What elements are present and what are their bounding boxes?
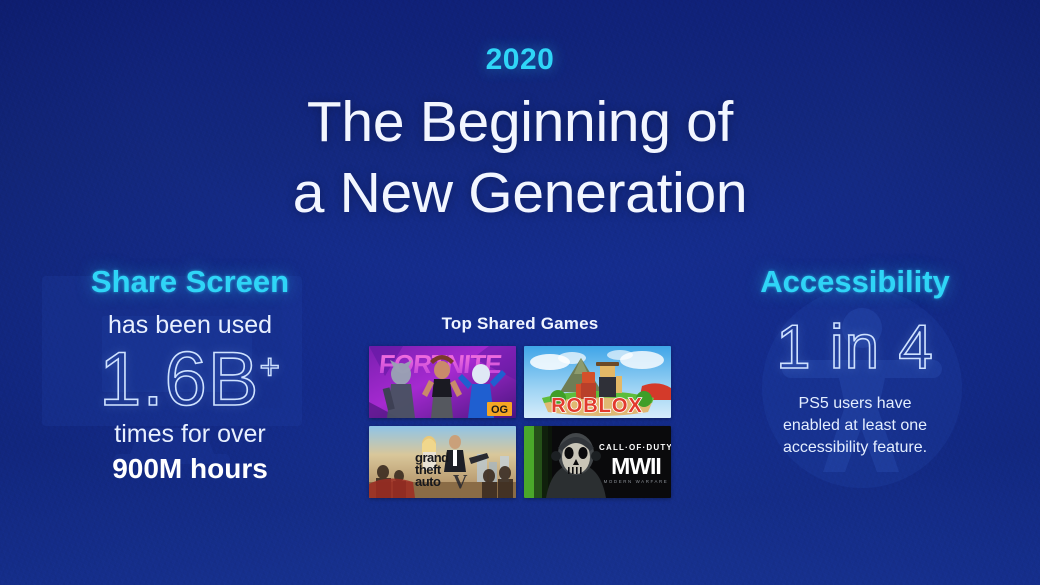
year-label: 2020 — [0, 45, 1040, 75]
accessibility-panel: Accessibility 1 in 4 PS5 users have enab… — [690, 266, 1020, 459]
svg-text:MWII: MWII — [611, 453, 661, 479]
share-screen-panel: Share Screen has been used 1.6B+ times f… — [22, 266, 358, 485]
top-shared-games-title: Top Shared Games — [352, 314, 688, 334]
game-tile-fortnite[interactable]: FORTNITE — [369, 346, 516, 418]
accessibility-description: PS5 users have enabled at least one acce… — [690, 393, 1020, 459]
accessibility-description-line-3: accessibility feature. — [690, 437, 1020, 459]
fortnite-thumbnail-art: FORTNITE — [369, 346, 516, 418]
share-screen-statistic: 1.6B+ — [22, 342, 358, 418]
accessibility-description-line-2: enabled at least one — [690, 415, 1020, 437]
svg-text:MODERN WARFARE: MODERN WARFARE — [604, 479, 669, 484]
header: 2020 The Beginning of a New Generation — [0, 0, 1040, 228]
game-tile-call-of-duty-mwii[interactable]: CALL·OF·DUTY MWII MODERN WARFARE — [524, 426, 671, 498]
accessibility-statistic: 1 in 4 — [690, 317, 1020, 379]
svg-text:CALL·OF·DUTY: CALL·OF·DUTY — [599, 443, 671, 452]
game-thumbnail-grid: FORTNITE — [352, 346, 688, 498]
fortnite-og-badge: OG — [491, 404, 508, 416]
share-screen-statistic-value: 1.6B — [99, 337, 259, 422]
cod-mwii-thumbnail-art: CALL·OF·DUTY MWII MODERN WARFARE — [524, 426, 671, 498]
svg-text:auto: auto — [415, 474, 441, 489]
accessibility-description-line-1: PS5 users have — [690, 393, 1020, 415]
accessibility-title: Accessibility — [690, 266, 1020, 299]
share-screen-subtitle-2: times for over — [22, 420, 358, 449]
roblox-logo-text: ROBLOX — [551, 395, 643, 417]
page-title: The Beginning of a New Generation — [0, 87, 1040, 228]
game-tile-gta-v[interactable]: grand theft auto V — [369, 426, 516, 498]
game-tile-roblox[interactable]: ROBLOX — [524, 346, 671, 418]
share-screen-statistic-plus: + — [259, 347, 280, 386]
share-screen-subtitle-1: has been used — [22, 311, 358, 340]
roblox-thumbnail-art: ROBLOX — [524, 346, 671, 418]
headline-line-2: a New Generation — [0, 158, 1040, 229]
share-screen-title: Share Screen — [22, 266, 358, 299]
infographic-canvas: 2020 The Beginning of a New Generation S… — [0, 0, 1040, 585]
svg-text:V: V — [453, 471, 468, 493]
top-shared-games-panel: Top Shared Games — [352, 314, 688, 498]
headline-line-1: The Beginning of — [307, 90, 733, 154]
gta-v-thumbnail-art: grand theft auto V — [369, 426, 516, 498]
share-screen-hours: 900M hours — [22, 453, 358, 485]
